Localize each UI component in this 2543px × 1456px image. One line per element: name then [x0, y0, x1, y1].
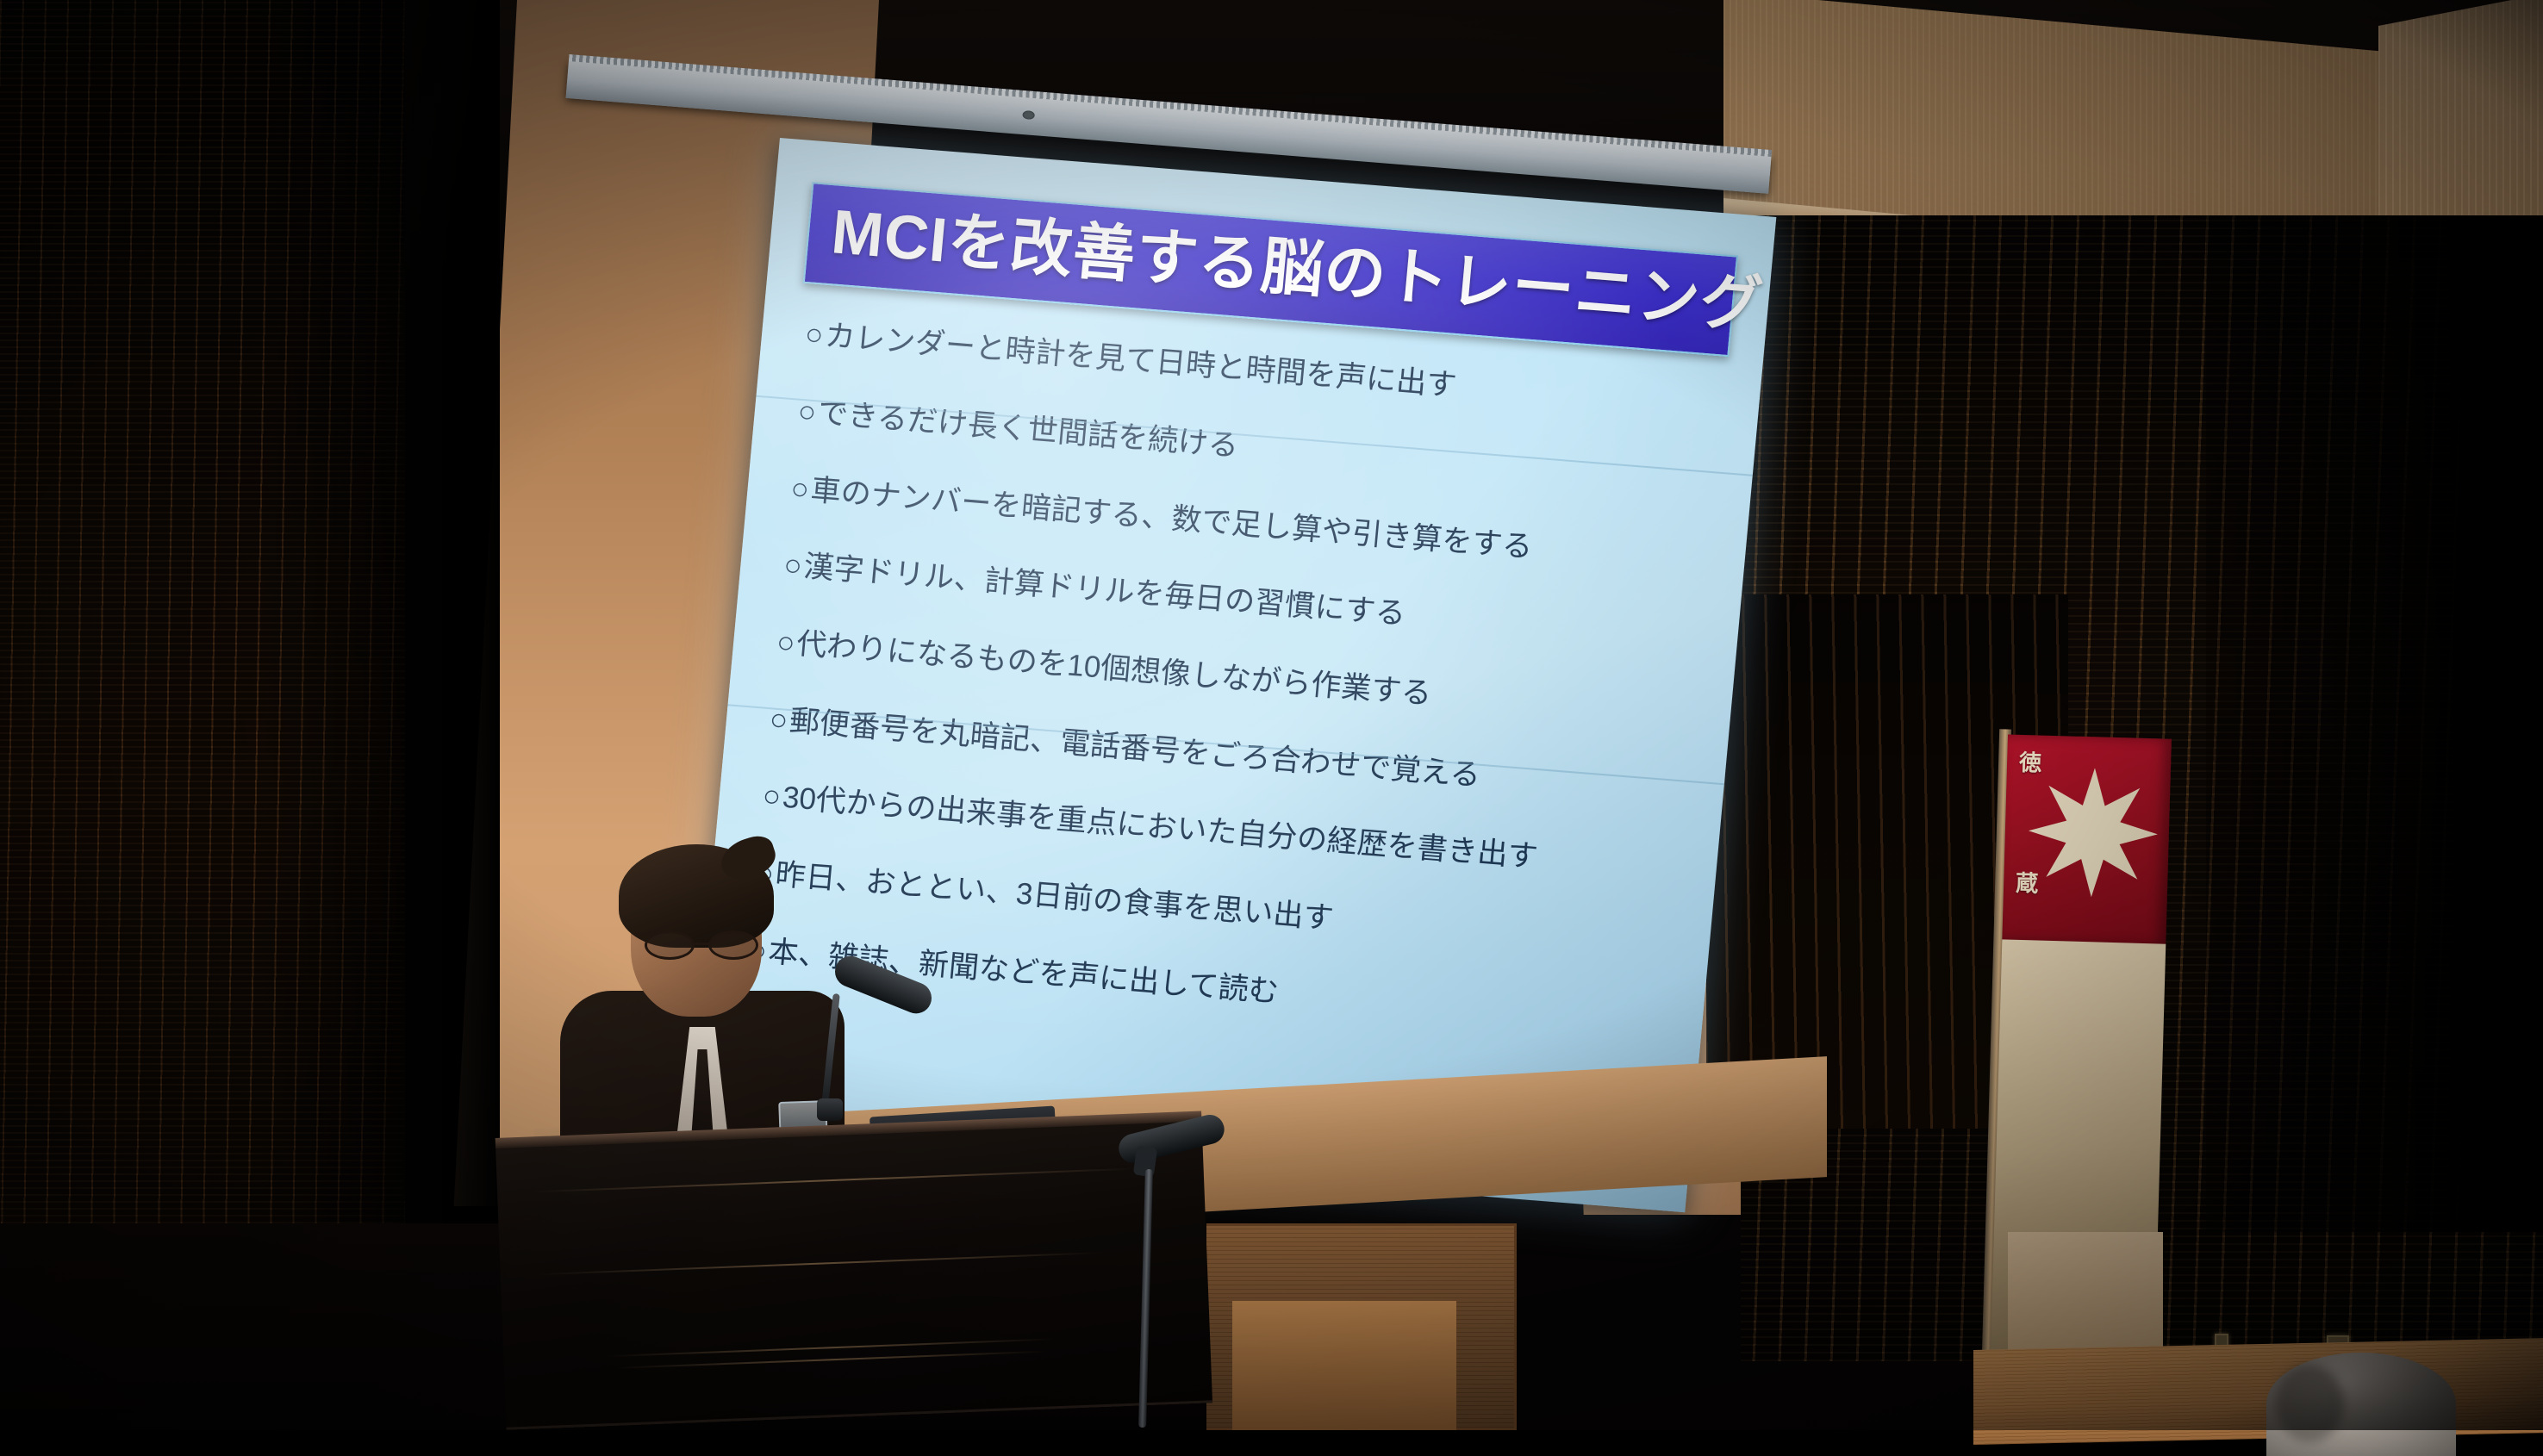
banner-kanji-bottom: 蔵 — [2016, 873, 2039, 896]
bullet-marker-icon: ○ — [775, 625, 796, 663]
bullet-marker-icon: ○ — [761, 778, 782, 816]
floor-microphone-stand — [1099, 1124, 1254, 1430]
microphone-neck — [821, 993, 840, 1105]
banner-kanji-top: 徳 — [2019, 752, 2042, 775]
lecture-hall-scene: MCIを改善する脳のトレーニング ○ カレンダーと時計を見て日時と時間を声に出す… — [0, 0, 2543, 1430]
bullet-text: 漢字ドリル、計算ドリルを毎日の習慣にする — [802, 549, 1407, 633]
bullet-marker-icon: ○ — [789, 470, 811, 508]
microphone-pole — [1138, 1169, 1153, 1428]
wall-panel-far-right — [2008, 1232, 2163, 1353]
glasses-bridge — [695, 943, 710, 945]
roller-mount-screw — [1022, 110, 1035, 120]
glasses-icon — [645, 930, 762, 960]
wood-rail — [1973, 1338, 2543, 1445]
slide-title: MCIを改善する脳のトレーニング — [829, 199, 1718, 335]
star-emblem-icon — [2043, 767, 2143, 899]
podium-trim-line — [532, 1168, 1135, 1193]
wood-wall-panel-inner — [1232, 1301, 1456, 1430]
curtain-far-right — [2206, 215, 2543, 1232]
bullet-text: カレンダーと時計を見て日時と時間を声に出す — [823, 318, 1458, 405]
curtain-left-shadow — [259, 0, 500, 1430]
podium-trim-line — [535, 1252, 1104, 1275]
microphone-base — [817, 1098, 843, 1121]
bullet-marker-icon: ○ — [782, 547, 804, 585]
bullet-text: 代わりになるものを10個想像しながら作業する — [795, 626, 1433, 713]
glasses-lens-right — [708, 930, 758, 960]
banner-cloth: 徳 蔵 — [2002, 734, 2172, 945]
audience-member-head — [2266, 1353, 2456, 1456]
bullet-marker-icon: ○ — [803, 316, 825, 354]
glasses-lens-left — [645, 930, 695, 960]
bullet-text: 車のナンバーを暗記する、数で足し算や引き算をする — [809, 472, 1534, 566]
